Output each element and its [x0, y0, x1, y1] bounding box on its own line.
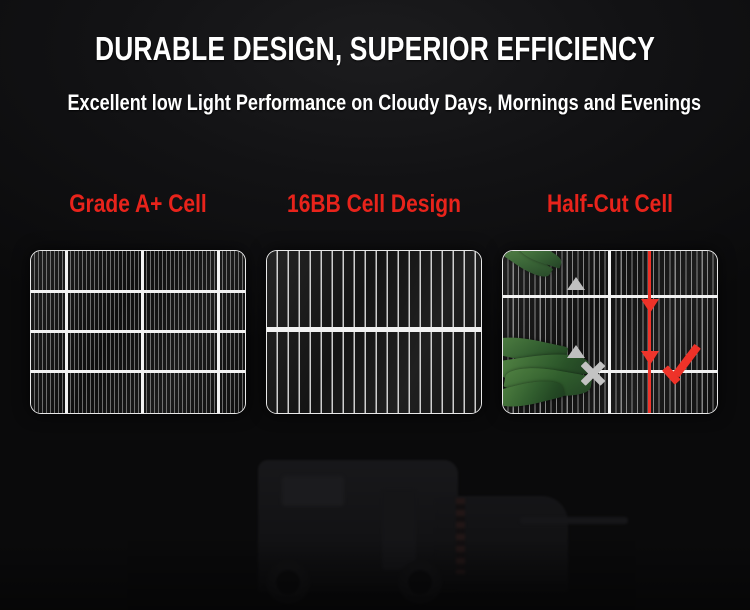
feature-heading-half-cut: Half-Cut Cell — [511, 186, 709, 226]
rv-window — [282, 476, 344, 506]
feature-column-grade-a: Grade A+ Cell High Efficiency and No Mic… — [20, 186, 256, 414]
rv-wheel-rear — [266, 560, 310, 604]
solar-cell-panel-half-cut — [502, 250, 718, 414]
busbar-vertical-center — [608, 251, 611, 413]
rv-cab — [436, 496, 568, 592]
busbar-lines-16 — [267, 251, 481, 413]
rv-wheel-front — [398, 560, 442, 604]
busbar-horizontal — [31, 370, 245, 373]
blocked-x-icon — [577, 357, 607, 387]
solar-cell-panel-grade-a — [30, 250, 246, 414]
rv-door — [382, 490, 416, 570]
feature-column-half-cut: Half-Cut Cell — [492, 186, 728, 414]
busbar-vertical — [65, 251, 68, 413]
current-flow-line — [648, 251, 651, 413]
current-arrow-down-icon — [641, 299, 659, 313]
background-rv-image — [0, 430, 750, 610]
busbar-horizontal — [31, 330, 245, 333]
current-arrow-up-icon — [567, 277, 585, 290]
rv-body — [258, 460, 458, 592]
busbar-vertical — [217, 251, 220, 413]
approved-check-icon — [663, 347, 707, 381]
solar-cell-panel-16bb — [266, 250, 482, 414]
infographic-root: DURABLE DESIGN, SUPERIOR EFFICIENCY Exce… — [0, 0, 750, 610]
busbar-vertical — [141, 251, 144, 413]
rv-stripe — [456, 498, 465, 574]
feature-column-16bb: 16BB Cell Design Enhanced Conductivity a… — [256, 186, 492, 414]
page-title: DURABLE DESIGN, SUPERIOR EFFICIENCY — [75, 32, 675, 65]
page-subtitle: Excellent low Light Performance on Cloud… — [68, 92, 683, 114]
check-stroke — [673, 344, 701, 378]
busbar-horizontal — [31, 290, 245, 293]
ground-shadow — [0, 540, 750, 610]
rv-rail — [520, 517, 628, 524]
feature-heading-grade-a: Grade A+ Cell — [39, 186, 237, 226]
busbar-horizontal — [503, 295, 717, 298]
current-arrow-down-icon — [641, 351, 659, 365]
busbar-horizontal-split — [267, 327, 481, 332]
feature-heading-16bb: 16BB Cell Design — [275, 186, 473, 226]
